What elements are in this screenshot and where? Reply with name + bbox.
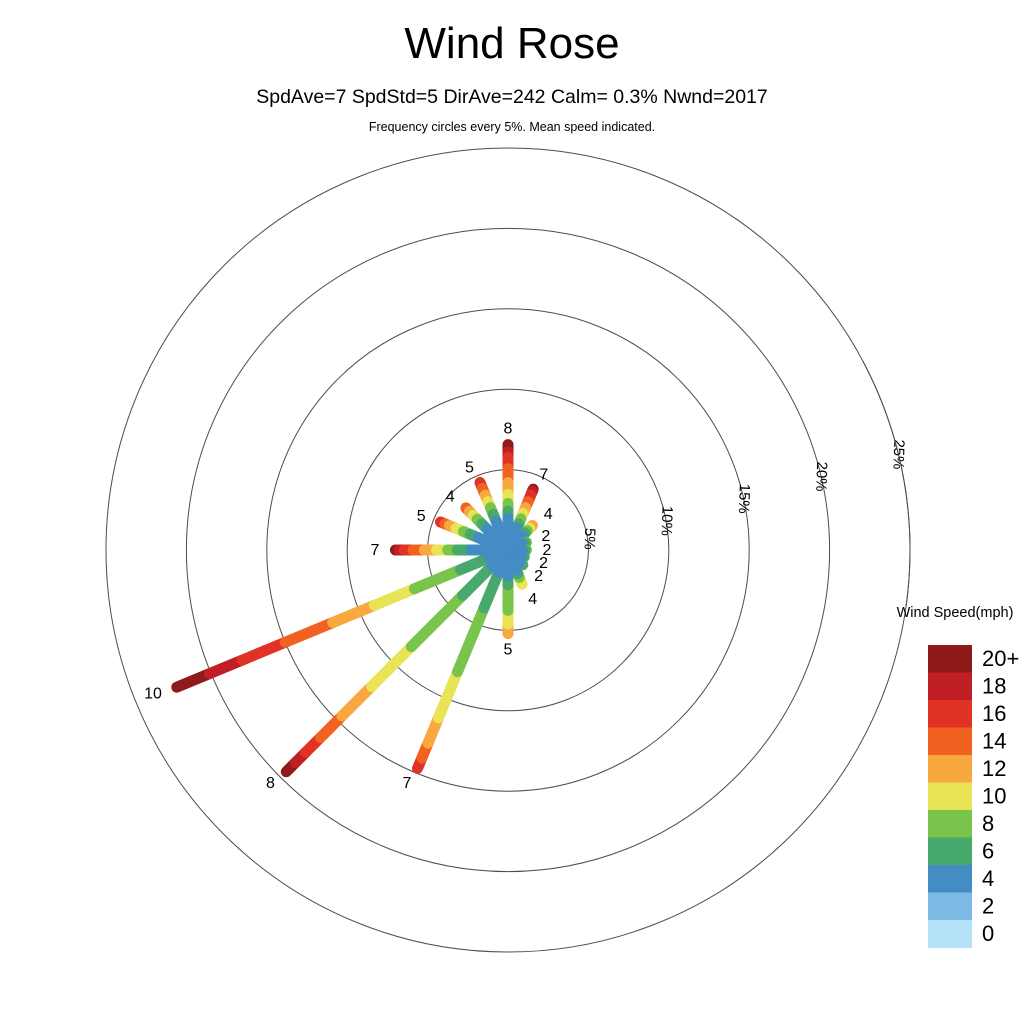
petal-mean-speed-label: 4 — [446, 489, 455, 506]
wind-rose-page: Wind Rose SpdAve=7 SpdStd=5 DirAve=242 C… — [0, 0, 1024, 1024]
legend-swatch — [928, 865, 972, 893]
petal-mean-speed-label: 7 — [371, 542, 380, 559]
legend-label: 6 — [982, 838, 994, 863]
legend-label: 8 — [982, 811, 994, 836]
legend-label: 2 — [982, 893, 994, 918]
legend-swatch — [928, 673, 972, 701]
petal-mean-speed-label: 8 — [266, 775, 275, 792]
petal-mean-speed-label: 5 — [504, 642, 513, 659]
radial-tick-label-10: 10% — [658, 506, 676, 537]
radial-tick-label-5: 5% — [581, 528, 599, 550]
legend-label: 0 — [982, 921, 994, 946]
frequency-note: Frequency circles every 5%. Mean speed i… — [369, 120, 655, 134]
legend-label: 18 — [982, 673, 1006, 698]
wind-rose-figure: Wind Rose SpdAve=7 SpdStd=5 DirAve=242 C… — [0, 0, 1024, 1024]
legend-title: Wind Speed(mph) — [897, 605, 1014, 621]
legend-swatch — [928, 838, 972, 866]
legend-swatch — [928, 783, 972, 811]
legend-label: 14 — [982, 728, 1006, 753]
legend-label: 4 — [982, 866, 994, 891]
legend-label: 10 — [982, 783, 1006, 808]
legend-swatch — [928, 893, 972, 921]
legend-swatch — [928, 810, 972, 838]
petal-mean-speed-label: 7 — [403, 775, 412, 792]
petal-mean-speed-label: 4 — [528, 591, 537, 608]
legend-swatch — [928, 728, 972, 756]
legend-label: 16 — [982, 701, 1006, 726]
stats-line: SpdAve=7 SpdStd=5 DirAve=242 Calm= 0.3% … — [256, 86, 768, 108]
petal-mean-speed-label: 5 — [417, 508, 426, 525]
radial-tick-label-20: 20% — [812, 461, 830, 492]
legend-swatch — [928, 700, 972, 728]
legend-label: 12 — [982, 756, 1006, 781]
petal-mean-speed-label: 2 — [534, 568, 543, 585]
legend-swatch — [928, 645, 972, 673]
radial-tick-label-15: 15% — [735, 483, 753, 514]
petal-mean-speed-label: 10 — [144, 685, 162, 702]
legend-swatch — [928, 755, 972, 783]
legend-label: 20+ — [982, 646, 1019, 671]
petal-mean-speed-label: 8 — [504, 421, 513, 438]
petal-mean-speed-label: 7 — [539, 466, 548, 483]
legend-swatch — [928, 920, 972, 948]
petal-mean-speed-label: 5 — [465, 460, 474, 477]
petal-mean-speed-label: 4 — [544, 506, 553, 523]
page-title: Wind Rose — [404, 19, 619, 68]
